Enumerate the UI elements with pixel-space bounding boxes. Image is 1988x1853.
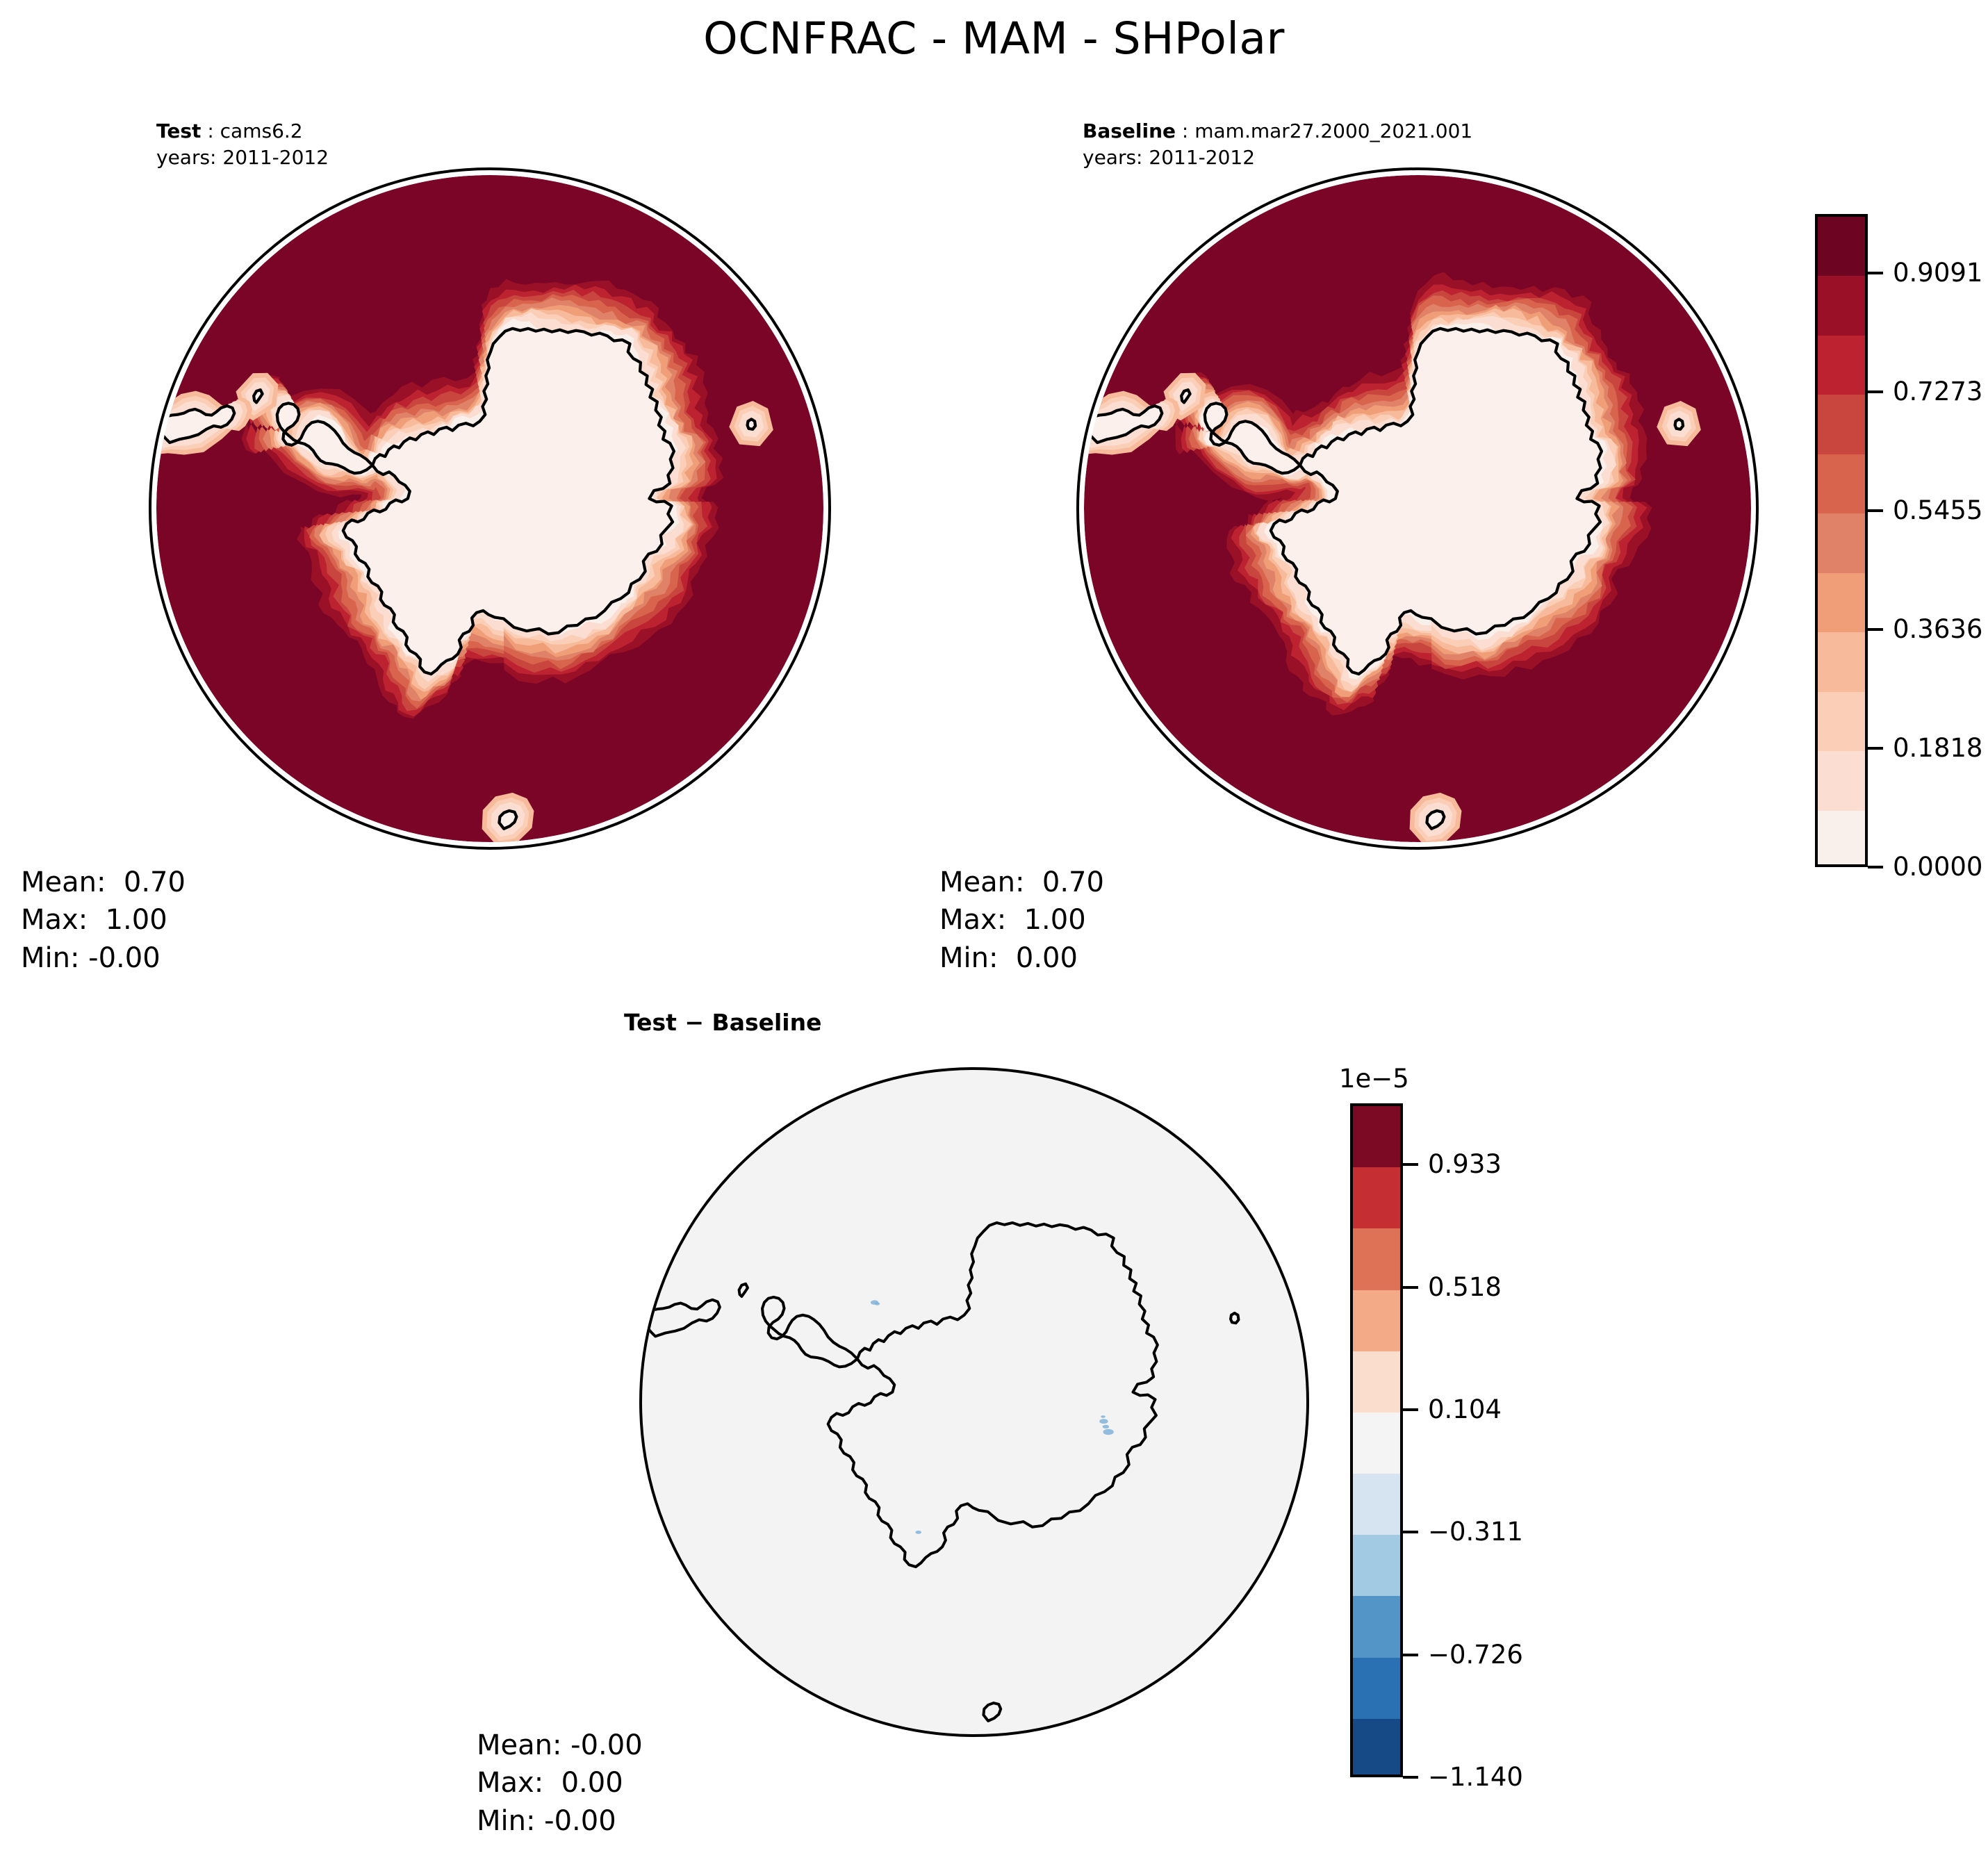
colorbar-tick-mark	[1403, 1654, 1418, 1656]
difference-anomaly-speck	[1103, 1429, 1114, 1435]
colorbar-band	[1818, 632, 1865, 691]
baseline-polar-map[interactable]	[1070, 161, 1765, 856]
colorbar-tick-mark	[1868, 509, 1883, 512]
colorbar-tick-label: 0.1818	[1893, 735, 1982, 761]
colorbar-tick-label: 0.5455	[1893, 497, 1982, 523]
colorbar-band	[1353, 1167, 1400, 1228]
colorbar-band	[1818, 513, 1865, 573]
colorbar-tick-label: 0.518	[1428, 1274, 1502, 1300]
colorbar-band	[1353, 1351, 1400, 1413]
test-polar-map[interactable]	[142, 161, 837, 856]
colorbar-band	[1353, 1596, 1400, 1657]
difference-anomaly-speck	[1101, 1415, 1106, 1418]
difference-stats: Mean: -0.00 Max: 0.00 Min: -0.00	[477, 1727, 643, 1840]
test-source: cams6.2	[220, 120, 303, 142]
colorbar-tick-mark	[1403, 1776, 1418, 1779]
test-map-svg	[142, 161, 837, 856]
colorbar-tick-label: 0.3636	[1893, 616, 1982, 642]
colorbar-tick-mark	[1403, 1531, 1418, 1533]
colorbar-band	[1818, 395, 1865, 454]
colorbar-tick-mark	[1403, 1286, 1418, 1289]
colorbar-gradient-strip[interactable]	[1815, 214, 1868, 867]
baseline-stats: Mean: 0.70 Max: 1.00 Min: 0.00	[939, 864, 1104, 977]
figure-title: OCNFRAC - MAM - SHPolar	[0, 13, 1988, 65]
colorbar-tick-mark	[1868, 390, 1883, 393]
colorbar-band	[1818, 276, 1865, 335]
colorbar-tick-label: −1.140	[1428, 1764, 1523, 1790]
baseline-source: mam.mar27.2000_2021.001	[1194, 120, 1472, 142]
difference-panel-title: Test − Baseline	[624, 1009, 822, 1036]
colorbar-band	[1818, 454, 1865, 513]
baseline-map-svg	[1070, 161, 1765, 856]
colorbar-tick-mark	[1403, 1163, 1418, 1166]
colorbar-band	[1353, 1228, 1400, 1290]
difference-anomaly-speck	[915, 1531, 921, 1534]
colorbar-band	[1818, 336, 1865, 395]
colorbar-tick-mark	[1868, 866, 1883, 868]
colorbar-tick-mark	[1403, 1408, 1418, 1411]
difference-anomaly-speck	[1099, 1419, 1108, 1424]
colorbar-gradient-strip[interactable]	[1350, 1103, 1403, 1777]
colorbar-band	[1818, 692, 1865, 751]
baseline-role-label: Baseline	[1083, 120, 1176, 142]
colorbar-band	[1353, 1413, 1400, 1474]
colorbar-tick-label: 0.7273	[1893, 379, 1982, 404]
colorbar-band	[1818, 573, 1865, 632]
baseline-separator: :	[1176, 120, 1194, 142]
colorbar-band	[1353, 1106, 1400, 1167]
difference-anomaly-speck	[875, 1302, 880, 1305]
colorbar-tick-label: 0.104	[1428, 1397, 1502, 1422]
colorbar-tick-mark	[1868, 747, 1883, 750]
colorbar-band	[1353, 1474, 1400, 1535]
colorbar-tick-label: −0.726	[1428, 1642, 1523, 1667]
colorbar-band	[1818, 751, 1865, 810]
colorbar-tick-label: 0.9091	[1893, 260, 1982, 286]
colorbar-band	[1353, 1719, 1400, 1777]
difference-zero-field	[642, 1070, 1306, 1734]
difference-map-svg	[627, 1055, 1322, 1749]
colorbar-exponent-label: 1e−5	[1339, 1066, 1409, 1092]
difference-anomaly-speck	[1103, 1425, 1110, 1428]
test-role-label: Test	[156, 120, 201, 142]
colorbar-tick-label: −0.311	[1428, 1519, 1523, 1545]
colorbar-band	[1353, 1535, 1400, 1596]
colorbar-band	[1818, 217, 1865, 276]
colorbar-tick-label: 0.0000	[1893, 854, 1982, 880]
difference-polar-map[interactable]	[627, 1055, 1322, 1749]
main-colorbar[interactable]: 0.90910.72730.54550.36360.18180.0000	[1815, 214, 1982, 867]
difference-colorbar[interactable]: 1e−50.9330.5180.104−0.311−0.726−1.140	[1350, 1103, 1552, 1777]
colorbar-tick-label: 0.933	[1428, 1151, 1502, 1177]
colorbar-band	[1353, 1658, 1400, 1719]
test-stats: Mean: 0.70 Max: 1.00 Min: -0.00	[21, 864, 186, 977]
colorbar-tick-mark	[1868, 272, 1883, 274]
colorbar-band	[1353, 1290, 1400, 1351]
test-separator: :	[201, 120, 220, 142]
colorbar-tick-mark	[1868, 628, 1883, 631]
colorbar-band	[1818, 811, 1865, 867]
